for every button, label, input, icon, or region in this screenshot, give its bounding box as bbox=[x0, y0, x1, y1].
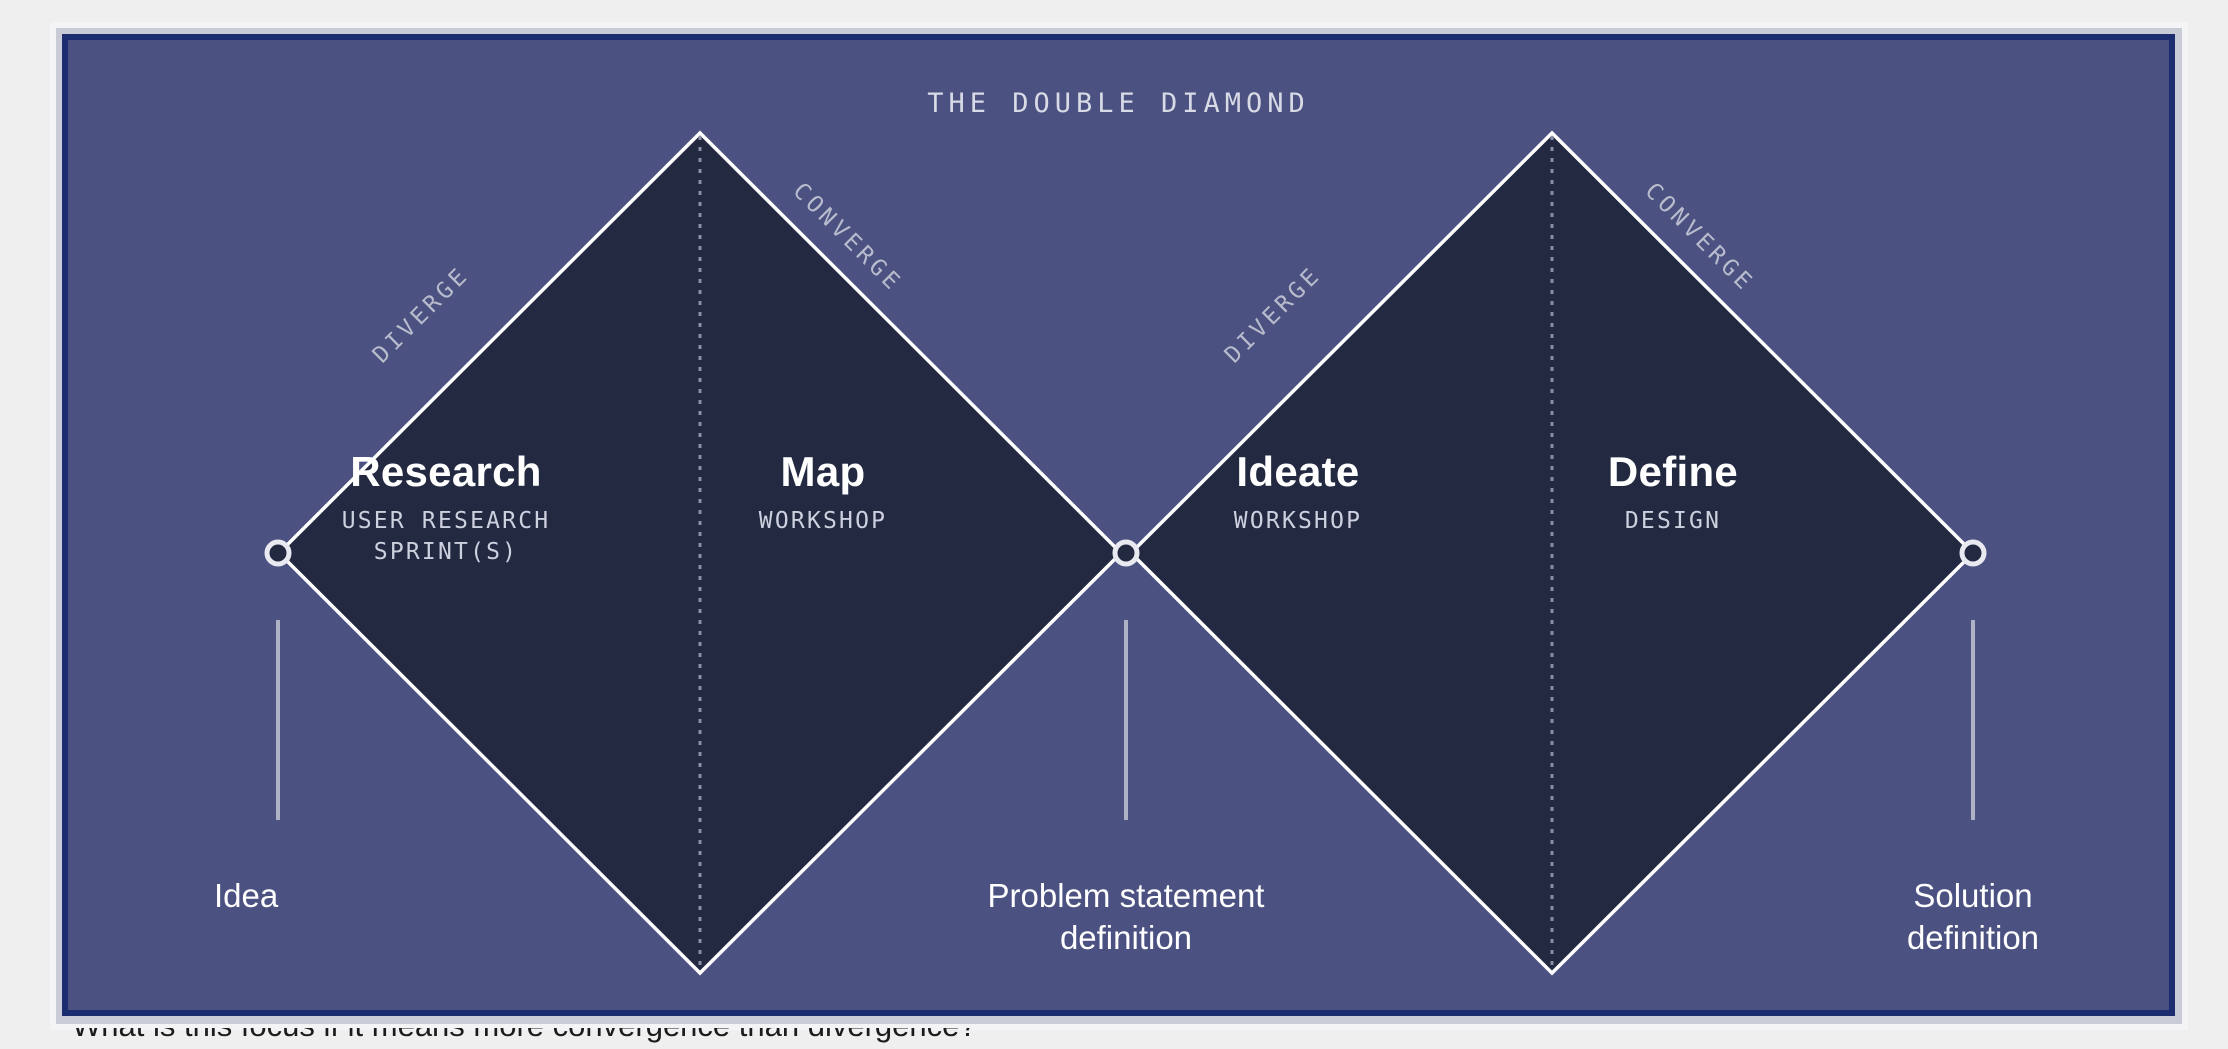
milestone-node-problem bbox=[1115, 542, 1137, 564]
stage-research-subtitle: USER RESEARCH SPRINT(S) bbox=[236, 506, 656, 568]
stage-ideate-name: Ideate bbox=[1088, 450, 1508, 494]
stage-define-name: Define bbox=[1463, 450, 1883, 494]
stage-define: Define DESIGN bbox=[1463, 450, 1883, 537]
milestone-label-problem-statement: Problem statement definition bbox=[826, 875, 1426, 958]
stage-map-name: Map bbox=[613, 450, 1033, 494]
diagram-title: THE DOUBLE DIAMOND bbox=[68, 88, 2169, 119]
milestone-label-idea: Idea bbox=[214, 875, 514, 917]
milestone-node-solution bbox=[1962, 542, 1984, 564]
stage-ideate: Ideate WORKSHOP bbox=[1088, 450, 1508, 537]
milestone-label-solution: Solution definition bbox=[1773, 875, 2169, 958]
screenshot-root: THE DOUBLE DIAMOND DIVERGE CONVERGE DIVE… bbox=[0, 0, 2228, 1049]
stage-ideate-subtitle: WORKSHOP bbox=[1088, 506, 1508, 537]
stage-research-name: Research bbox=[236, 450, 656, 494]
stage-map: Map WORKSHOP bbox=[613, 450, 1033, 537]
figure-caption-clipped: What is this focus if it means more conv… bbox=[72, 1028, 2072, 1049]
stage-research: Research USER RESEARCH SPRINT(S) bbox=[236, 450, 656, 568]
stage-map-subtitle: WORKSHOP bbox=[613, 506, 1033, 537]
stage-define-subtitle: DESIGN bbox=[1463, 506, 1883, 537]
figure-caption-text: What is this focus if it means more conv… bbox=[72, 1028, 2072, 1044]
double-diamond-diagram: THE DOUBLE DIAMOND DIVERGE CONVERGE DIVE… bbox=[68, 40, 2169, 1010]
